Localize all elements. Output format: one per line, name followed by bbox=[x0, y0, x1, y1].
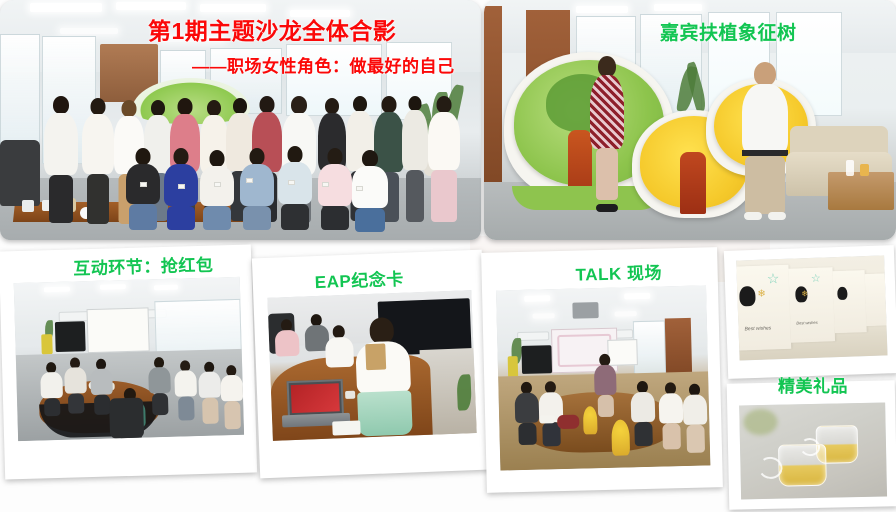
eap-card-image bbox=[267, 290, 476, 441]
star-doodle-icon-2: ☆ bbox=[811, 274, 821, 285]
flower-doodle-icon: ❄ bbox=[757, 290, 766, 300]
panel-title-line1: 第1期主题沙龙全体合影 bbox=[148, 12, 396, 46]
panel-eap-card[interactable]: EAP纪念卡 bbox=[252, 250, 490, 479]
slide-canvas: 第1期主题沙龙全体合影 ——职场女性角色：做最好的自己 bbox=[0, 0, 896, 512]
star-doodle-icon: ☆ bbox=[767, 271, 780, 285]
flower-doodle-icon-2: ❄ bbox=[801, 290, 808, 298]
talk-scene-image bbox=[496, 285, 710, 470]
panel-gift-cards[interactable]: ☆ ❄ ☆ ❄ Best wishes Best wishes bbox=[724, 245, 896, 379]
panel-talk-scene[interactable]: TALK 现场 bbox=[481, 247, 723, 493]
red-envelope-image bbox=[14, 277, 244, 441]
panel-label-symbolic-tree: 嘉宾扶植象征树 bbox=[660, 18, 797, 45]
card-text-2: Best wishes bbox=[796, 320, 818, 326]
panel-interactive-red-envelope[interactable]: 互动环节：抢红包 bbox=[0, 245, 257, 480]
panel-gift-cups[interactable] bbox=[727, 380, 896, 509]
panel-label-talk-scene: TALK 现场 bbox=[575, 259, 662, 286]
panel-symbolic-tree[interactable]: 嘉宾扶植象征树 bbox=[484, 0, 896, 240]
tea-cups-image bbox=[739, 402, 887, 499]
panel-group-photo[interactable]: 第1期主题沙龙全体合影 ——职场女性角色：做最好的自己 bbox=[0, 0, 481, 240]
card-text: Best wishes bbox=[744, 325, 771, 332]
panel-label-eap-card: EAP纪念卡 bbox=[314, 265, 404, 293]
greeting-cards-image: ☆ ❄ ☆ ❄ Best wishes Best wishes bbox=[736, 255, 887, 360]
panel-label-gifts: 精美礼品 bbox=[778, 372, 848, 397]
panel-label-red-envelope: 互动环节：抢红包 bbox=[73, 251, 214, 280]
panel-title-line2: ——职场女性角色：做最好的自己 bbox=[192, 52, 455, 77]
